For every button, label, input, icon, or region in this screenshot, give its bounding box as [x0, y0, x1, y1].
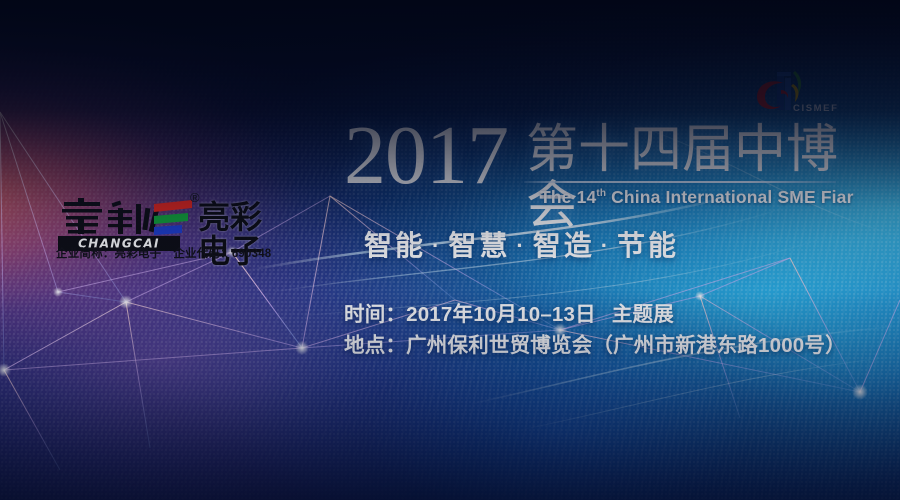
event-title-cn: 第十四届中博会: [526, 122, 844, 234]
slogan-separator-1: ·: [426, 233, 448, 259]
event-venue-value: 广州保利世贸博览会（广州市新港东路1000号）: [406, 334, 846, 357]
event-date-label: 时间：: [344, 303, 406, 326]
slogan-separator-2: ·: [510, 233, 532, 259]
slogan-item-4: 节能: [617, 230, 679, 261]
slogan-separator-3: ·: [595, 233, 617, 259]
slogan-item-1: 智能: [364, 230, 426, 261]
event-date-value: 2017年10月10–13日: [406, 303, 596, 326]
company-abbr-value: 亮彩电子: [115, 248, 162, 260]
company-code-label: 企业代码：: [173, 248, 232, 260]
event-title-en: The 14th China International SME Fiar: [540, 187, 854, 208]
company-code-value: 690348: [232, 248, 272, 260]
event-slogan: 智能·智慧·智造·节能: [364, 224, 679, 264]
cismef-wordmark: CISMEF: [793, 103, 839, 114]
company-logo: CHANGCAI ® 亮彩电子 企业简称：亮彩电子企业代码：690348: [58, 196, 288, 268]
event-venue-label: 地点：: [344, 334, 406, 357]
cismef-logo: CISMEF: [755, 70, 850, 122]
event-banner: CISMEF 2017 第十四届中博会 The 14th China Inter…: [0, 0, 900, 500]
event-title-en-suffix: China International SME Fiar: [606, 187, 853, 207]
slogan-item-2: 智慧: [448, 230, 510, 261]
company-abbr-label: 企业简称：: [56, 248, 115, 260]
event-year: 2017: [344, 114, 508, 198]
event-date-note: 主题展: [612, 303, 674, 326]
event-title-en-prefix: The 14: [540, 187, 596, 207]
company-meta-line: 企业简称：亮彩电子企业代码：690348: [56, 245, 271, 261]
event-date-line: 时间：2017年10月10–13日主题展: [344, 299, 889, 330]
title-divider-line: [524, 181, 836, 183]
event-title-en-ordinal: th: [596, 188, 606, 199]
event-info: 时间：2017年10月10–13日主题展 地点：广州保利世贸博览会（广州市新港东…: [344, 299, 889, 361]
event-venue-line: 地点：广州保利世贸博览会（广州市新港东路1000号）: [344, 330, 889, 361]
slogan-item-3: 智造: [533, 230, 595, 261]
